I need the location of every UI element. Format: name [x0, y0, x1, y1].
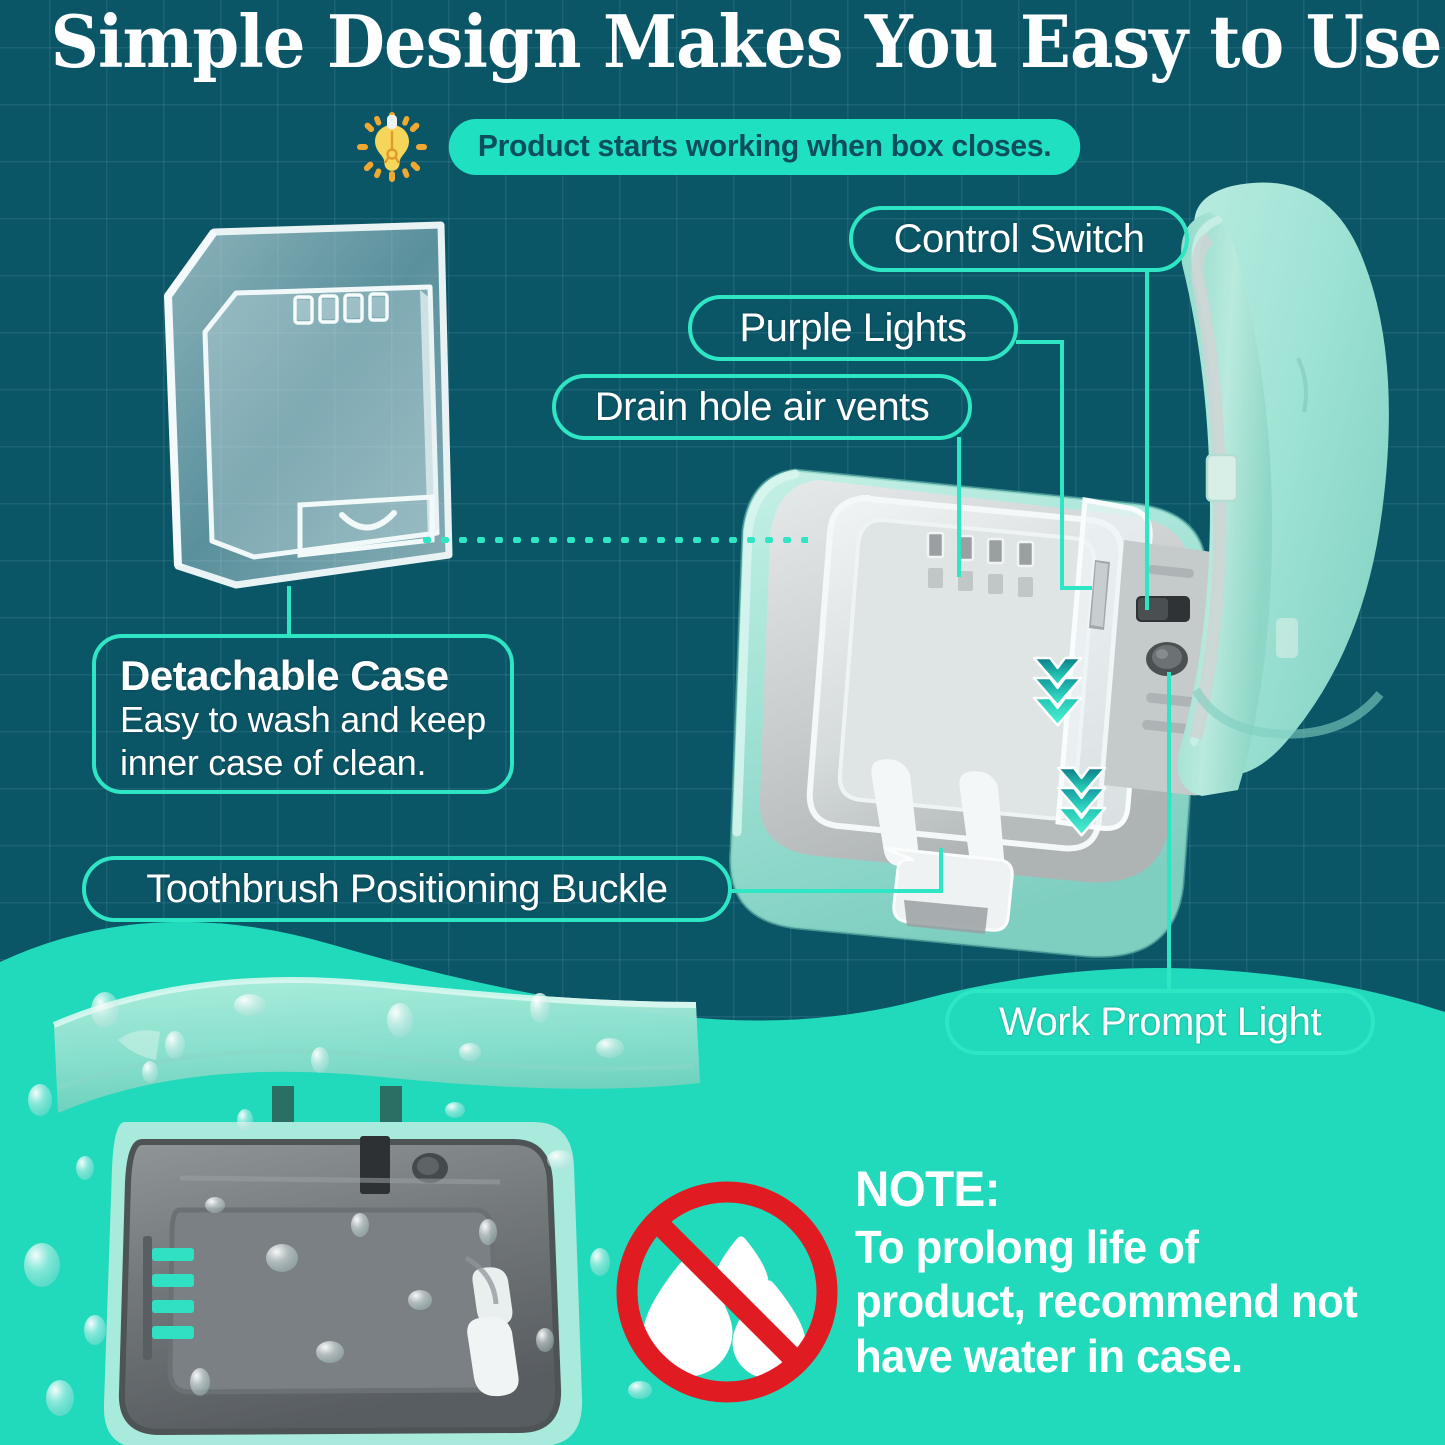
callout-label: Purple Lights — [740, 306, 967, 351]
note-block: NOTE: To prolong life of product, recomm… — [855, 1160, 1406, 1384]
connector-purple-lights-h2 — [1060, 586, 1092, 590]
detachable-case-art — [168, 225, 449, 585]
no-water-icon — [610, 1175, 845, 1410]
detachable-case-line2: inner case of clean. — [120, 742, 486, 784]
callout-detachable-case[interactable]: Detachable Case Easy to wash and keep in… — [92, 634, 514, 794]
detachable-case-line1: Easy to wash and keep — [120, 699, 486, 741]
callout-control-switch[interactable]: Control Switch — [849, 206, 1189, 272]
connector-purple-lights-v — [1060, 340, 1064, 590]
callout-purple-lights[interactable]: Purple Lights — [688, 295, 1018, 361]
note-heading: NOTE: — [855, 1160, 1406, 1220]
detachable-case-title: Detachable Case — [120, 652, 486, 699]
connector-buckle-h — [728, 889, 943, 893]
callout-drain-hole-air-vents[interactable]: Drain hole air vents — [552, 374, 972, 440]
connector-work-prompt-v — [1167, 672, 1171, 990]
note-line-2: product, recommend not — [855, 1274, 1406, 1329]
bottom-left-product-art — [24, 980, 700, 1445]
note-line-3: have water in case. — [855, 1329, 1406, 1384]
callout-label: Control Switch — [894, 217, 1145, 262]
connector-drain-vents — [957, 437, 961, 577]
note-line-1: To prolong life of — [855, 1220, 1406, 1275]
infographic-canvas: Simple Design Makes You Easy to Use — [0, 0, 1445, 1445]
connector-purple-lights-h1 — [1016, 340, 1064, 344]
connector-detachable-case-dotted — [418, 537, 808, 543]
connector-buckle-v — [939, 848, 943, 892]
connector-detachable-case-stem — [287, 586, 291, 638]
callout-label: Drain hole air vents — [595, 385, 930, 430]
callout-label: Work Prompt Light — [999, 1000, 1321, 1045]
callout-label: Toothbrush Positioning Buckle — [146, 867, 667, 912]
callout-toothbrush-positioning-buckle[interactable]: Toothbrush Positioning Buckle — [82, 856, 732, 922]
callout-work-prompt-light[interactable]: Work Prompt Light — [945, 989, 1375, 1055]
lid-art — [1178, 183, 1389, 796]
connector-control-switch — [1145, 270, 1149, 610]
